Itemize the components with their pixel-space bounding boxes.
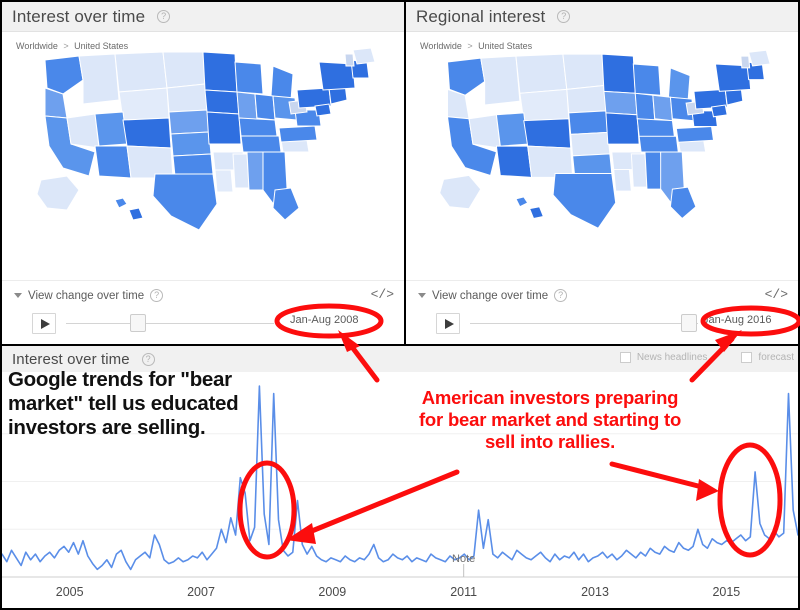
annotation-red-line-3: sell into rallies.	[374, 431, 726, 453]
svg-text:2009: 2009	[318, 585, 346, 599]
help-icon[interactable]: ?	[142, 353, 155, 366]
interest-over-time-map-panel: Interest over time ? Worldwide > United …	[2, 2, 406, 344]
help-icon[interactable]: ?	[554, 289, 567, 302]
svg-text:2011: 2011	[450, 585, 477, 599]
annotation-red-line-2: for bear market and starting to	[374, 409, 726, 431]
annotation-red-line-1: American investors preparing	[374, 387, 726, 409]
chart-options: News headlines forecast	[620, 352, 794, 363]
slider-track[interactable]	[66, 323, 274, 324]
annotation-red-text: American investors preparing for bear ma…	[374, 387, 726, 452]
help-icon[interactable]: ?	[557, 10, 570, 23]
timeline-slider-left[interactable]: Jan-Aug 2008	[2, 311, 404, 339]
chevron-down-icon	[418, 293, 426, 298]
view-change-label: View change over time	[28, 290, 144, 302]
slider-range-label: Jan-Aug 2008	[290, 314, 359, 326]
checkbox-box[interactable]	[620, 352, 631, 363]
slider-range-label: Jan-Aug 2016	[703, 314, 772, 326]
help-icon[interactable]: ?	[157, 10, 170, 23]
slider-track[interactable]	[470, 323, 698, 324]
checkbox-label: News headlines	[637, 352, 708, 363]
help-icon[interactable]: ?	[150, 289, 163, 302]
view-change-over-time-right: View change over time ? </> Jan-Aug 2016	[406, 280, 798, 344]
annotation-black-line-3: investors are selling.	[8, 416, 298, 440]
view-change-toggle-left[interactable]: View change over time ?	[14, 289, 163, 302]
panel-header-right: Regional interest ?	[406, 2, 798, 32]
panel-title-left: Interest over time	[12, 7, 145, 27]
trends-panels: Interest over time ? Worldwide > United …	[2, 2, 798, 344]
note-label: Note	[452, 553, 475, 565]
svg-text:2015: 2015	[712, 585, 740, 599]
us-map-svg	[23, 48, 383, 253]
chart-title: Interest over time	[12, 351, 130, 368]
svg-text:2005: 2005	[56, 585, 84, 599]
us-choropleth-map-right[interactable]	[406, 48, 798, 263]
checkbox-news-headlines[interactable]: News headlines	[620, 352, 708, 363]
checkbox-label: forecast	[758, 352, 794, 363]
annotation-black-line-2: market" tell us educated	[8, 392, 298, 416]
x-axis-tick-labels: 200520072009201120132015	[56, 585, 741, 599]
us-map-svg	[426, 48, 778, 253]
screenshot-root: Interest over time ? Worldwide > United …	[0, 0, 800, 610]
slider-handle[interactable]	[130, 314, 146, 332]
checkbox-forecast[interactable]: forecast	[741, 352, 794, 363]
slider-handle[interactable]	[681, 314, 697, 332]
embed-code-icon[interactable]: </>	[765, 287, 788, 302]
view-change-over-time-left: View change over time ? </> Jan-Aug 2008	[2, 280, 404, 344]
regional-interest-map-panel: Regional interest ? Worldwide > United S…	[406, 2, 798, 344]
embed-code-icon[interactable]: </>	[371, 287, 394, 302]
play-button[interactable]	[32, 313, 56, 334]
play-button[interactable]	[436, 313, 460, 334]
view-change-label: View change over time	[432, 290, 548, 302]
chevron-down-icon	[14, 293, 22, 298]
us-choropleth-map-left[interactable]	[2, 48, 404, 263]
checkbox-box[interactable]	[741, 352, 752, 363]
panel-header-left: Interest over time ?	[2, 2, 404, 32]
svg-text:2013: 2013	[581, 585, 609, 599]
view-change-toggle-right[interactable]: View change over time ?	[418, 289, 567, 302]
annotation-black-line-1: Google trends for "bear	[8, 368, 298, 392]
timeline-slider-right[interactable]: Jan-Aug 2016	[406, 311, 798, 339]
svg-text:2007: 2007	[187, 585, 215, 599]
annotation-black-text: Google trends for "bear market" tell us …	[8, 368, 298, 441]
panel-title-right: Regional interest	[416, 7, 545, 27]
